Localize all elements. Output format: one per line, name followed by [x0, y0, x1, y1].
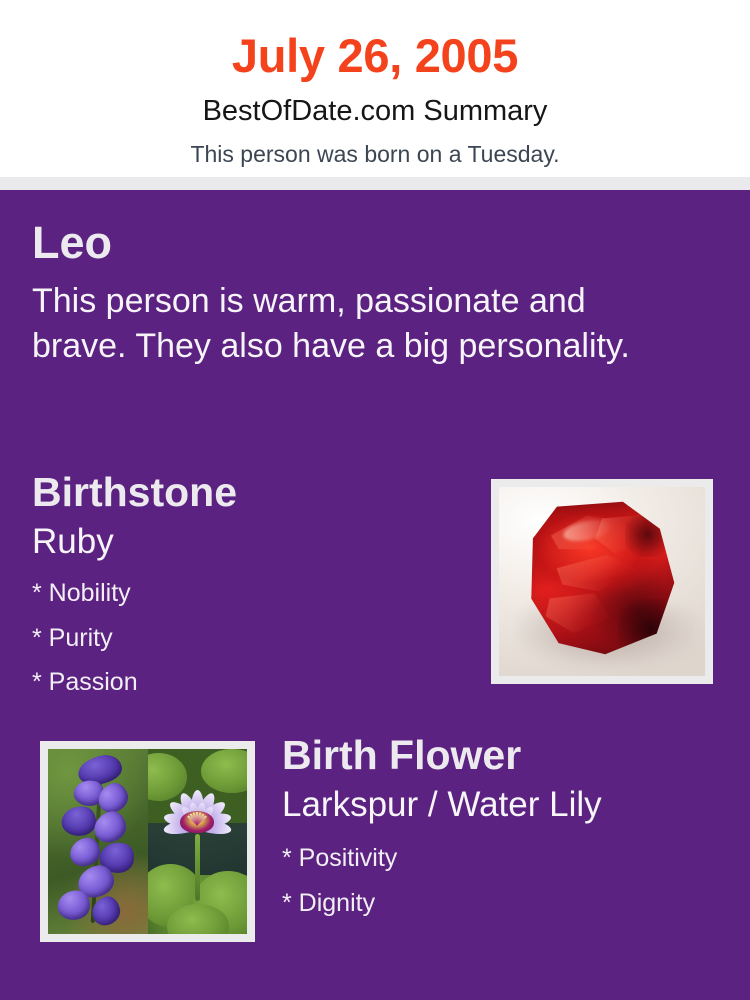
birth-flower-section: Birth Flower Larkspur / Water Lily * Pos…: [282, 735, 732, 925]
zodiac-section: Leo This person is warm, passionate and …: [32, 220, 692, 369]
ruby-facet: [556, 551, 639, 595]
born-day-text: This person was born on a Tuesday.: [0, 126, 750, 166]
header: July 26, 2005 BestOfDate.com Summary Thi…: [0, 0, 750, 177]
ruby-image: [499, 487, 705, 676]
list-item: * Passion: [32, 660, 472, 705]
birthstone-photo-frame: [491, 479, 713, 684]
list-item: * Nobility: [32, 571, 472, 616]
zodiac-description: This person is warm, passionate and brav…: [32, 265, 682, 369]
list-item: * Purity: [32, 616, 472, 661]
birth-flower-trait-list: * Positivity * Dignity: [282, 822, 732, 925]
birthstone-value: Ruby: [32, 513, 472, 559]
flower-image-pair: [48, 749, 247, 934]
birthstone-heading: Birthstone: [32, 472, 472, 513]
birth-flower-heading: Birth Flower: [282, 735, 732, 776]
birth-flower-value: Larkspur / Water Lily: [282, 776, 732, 822]
larkspur-image: [48, 749, 148, 934]
birthstone-trait-list: * Nobility * Purity * Passion: [32, 559, 472, 705]
page-title: July 26, 2005: [0, 0, 750, 79]
birthstone-section: Birthstone Ruby * Nobility * Purity * Pa…: [32, 472, 472, 705]
header-divider: [0, 177, 750, 190]
list-item: * Dignity: [282, 881, 732, 926]
list-item: * Positivity: [282, 836, 732, 881]
zodiac-sign-name: Leo: [32, 220, 692, 265]
site-summary-label: BestOfDate.com Summary: [0, 79, 750, 126]
ruby-facet: [544, 590, 612, 637]
birth-flower-photo-frame: [40, 741, 255, 942]
birthday-summary-card: July 26, 2005 BestOfDate.com Summary Thi…: [0, 0, 750, 1000]
lily-blossom: [161, 786, 233, 860]
water-lily-image: [148, 749, 248, 934]
content-panel: Leo This person is warm, passionate and …: [0, 190, 750, 1000]
